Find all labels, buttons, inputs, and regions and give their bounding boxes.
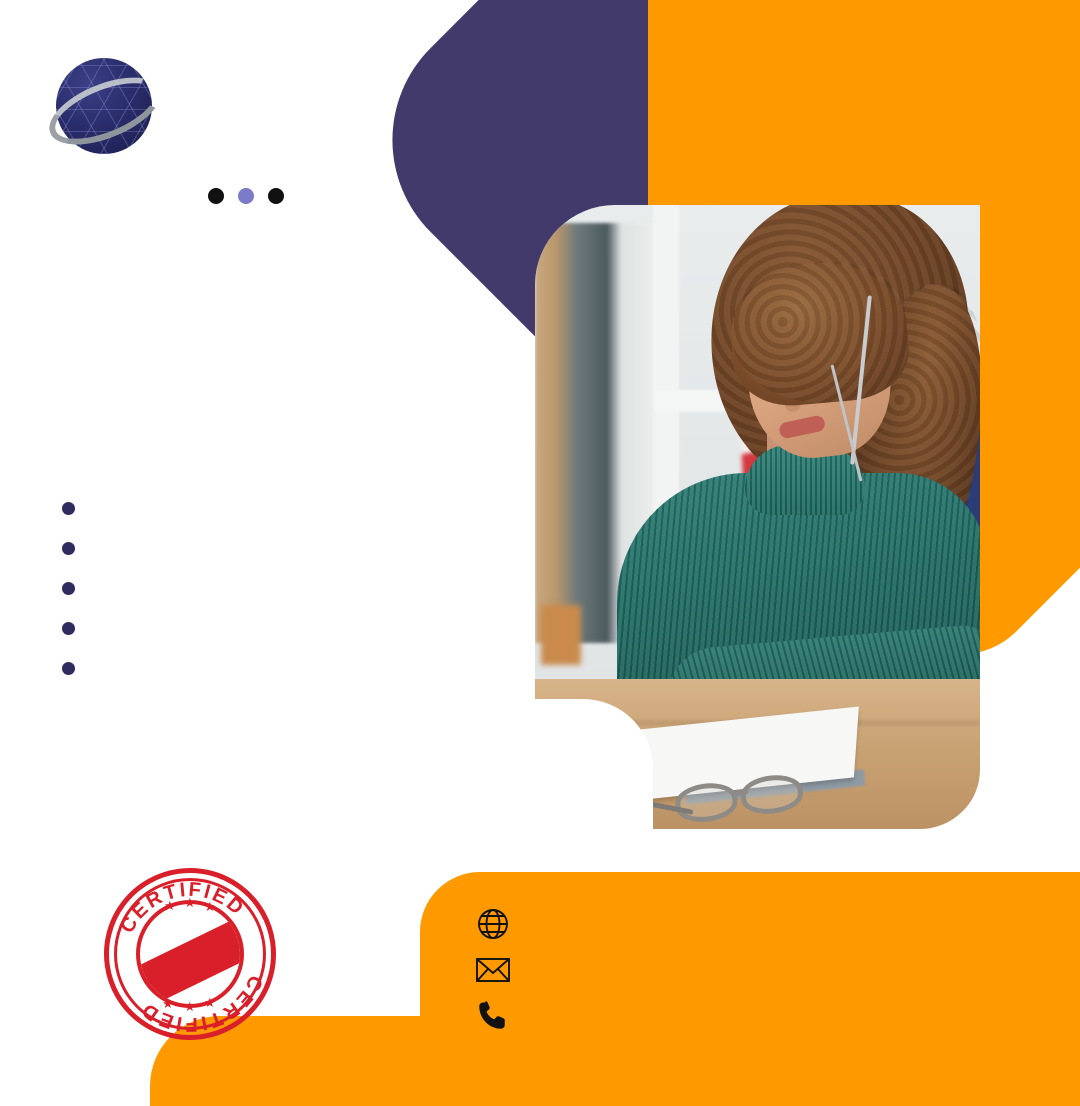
stamp-core (136, 900, 244, 1008)
hero-photo (535, 205, 980, 829)
dot-1 (208, 188, 224, 204)
certified-stamp-icon: CERTIFIED CERTIFIED ★ ★ ★ ★ ★ ★ (104, 868, 276, 1040)
dot-2 (238, 188, 254, 204)
list-item (56, 535, 536, 555)
photo-person (627, 263, 980, 733)
contact-row-email[interactable] (470, 956, 1070, 984)
list-item (56, 495, 536, 515)
bullet-icon (62, 542, 75, 555)
eyeglass-lens-left (673, 780, 739, 825)
phone-icon (470, 998, 516, 1032)
dot-3 (268, 188, 284, 204)
list-item (56, 615, 536, 635)
logo-wordmark (170, 48, 470, 72)
decorative-dots (208, 188, 284, 204)
contact-block (470, 884, 1070, 1032)
feature-list (56, 495, 536, 695)
poster-canvas: CERTIFIED CERTIFIED ★ ★ ★ ★ ★ ★ (0, 0, 1080, 1080)
stamp-banner (136, 901, 244, 1008)
globe-icon (52, 54, 156, 158)
contact-row-phone[interactable] (470, 998, 1070, 1032)
bullet-icon (62, 622, 75, 635)
brand-logo[interactable] (52, 48, 472, 178)
list-item (56, 575, 536, 595)
bullet-icon (62, 662, 75, 675)
bullet-icon (62, 502, 75, 515)
bullet-icon (62, 582, 75, 595)
list-item (56, 655, 536, 675)
contact-row-website[interactable] (470, 906, 1070, 942)
globe-icon (470, 906, 516, 942)
person-lips (778, 414, 826, 439)
envelope-icon (470, 956, 516, 984)
photo-book (541, 605, 581, 665)
eyeglass-lens-right (739, 772, 805, 817)
